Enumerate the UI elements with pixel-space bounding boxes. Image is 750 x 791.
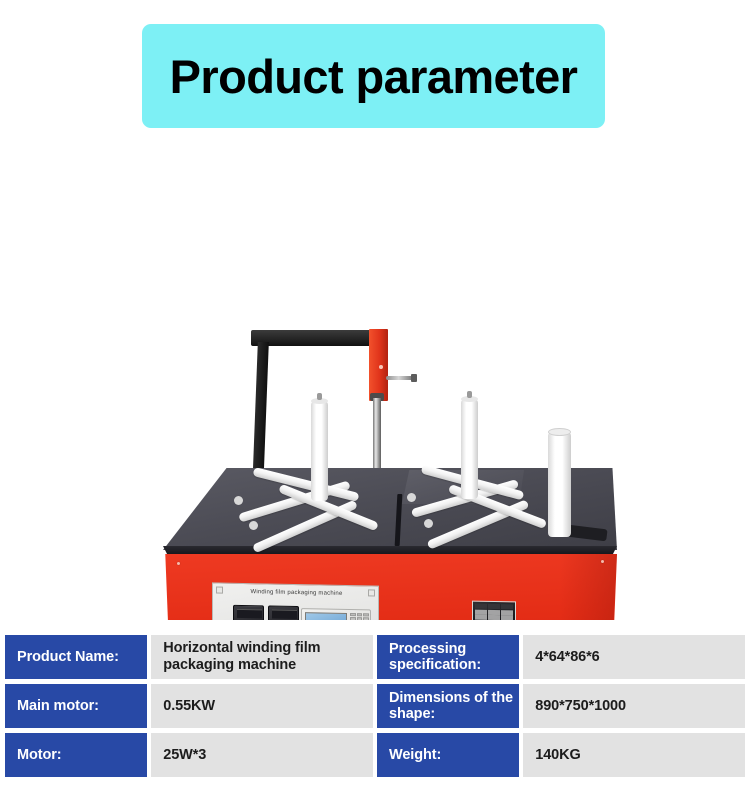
gantry-screw bbox=[379, 365, 383, 369]
machine-illustration: Winding film packaging machine Main moto… bbox=[0, 150, 750, 620]
gantry-top-beam bbox=[251, 330, 385, 346]
spec-label: Processing specification: bbox=[377, 635, 519, 679]
machine-nameplate bbox=[472, 601, 516, 620]
spec-value: Horizontal winding film packaging machin… bbox=[151, 635, 373, 679]
film-roll-top bbox=[548, 428, 571, 436]
spec-value: 890*750*1000 bbox=[523, 684, 745, 728]
control-panel[interactable]: Winding film packaging machine Main moto… bbox=[212, 582, 379, 620]
table-row: Main motor: 0.55KW Dimensions of the sha… bbox=[5, 684, 745, 728]
film-roll-pin bbox=[467, 391, 472, 398]
hmi-lcd-screen bbox=[305, 612, 347, 620]
cabinet-screw bbox=[177, 562, 180, 565]
spec-value: 0.55KW bbox=[151, 684, 373, 728]
roller-arm-cap bbox=[234, 496, 243, 505]
film-roll-pin bbox=[317, 393, 322, 400]
film-roll bbox=[311, 401, 328, 501]
table-row: Motor: 25W*3 Weight: 140KG bbox=[5, 733, 745, 777]
roller-arm-cap bbox=[249, 521, 258, 530]
spec-value: 140KG bbox=[523, 733, 745, 777]
page-title: Product parameter bbox=[170, 53, 578, 100]
vfd-drive-main[interactable] bbox=[233, 605, 264, 620]
spec-label: Dimensions of the shape: bbox=[377, 684, 519, 728]
roller-arm-cap bbox=[424, 519, 433, 528]
film-roll bbox=[548, 432, 571, 537]
hmi-keypad-unit[interactable] bbox=[301, 608, 371, 620]
film-roll bbox=[461, 399, 478, 499]
deck-front-edge bbox=[163, 546, 617, 555]
spec-value: 4*64*86*6 bbox=[523, 635, 745, 679]
panel-title: Winding film packaging machine bbox=[213, 588, 380, 597]
spec-value: 25W*3 bbox=[151, 733, 373, 777]
cabinet-screw bbox=[601, 560, 604, 563]
spec-label: Weight: bbox=[377, 733, 519, 777]
product-photo: Winding film packaging machine Main moto… bbox=[0, 150, 750, 620]
spec-label: Main motor: bbox=[5, 684, 147, 728]
vfd-drive-rotating[interactable] bbox=[268, 605, 299, 620]
table-row: Product Name: Horizontal winding film pa… bbox=[5, 635, 745, 679]
title-banner: Product parameter bbox=[142, 24, 605, 128]
cabinet-shading bbox=[560, 554, 617, 620]
hmi-numeric-keypad[interactable] bbox=[350, 613, 369, 620]
vfd-screen bbox=[237, 609, 262, 618]
gantry-adjust-knob bbox=[386, 376, 414, 380]
specification-table: Product Name: Horizontal winding film pa… bbox=[0, 630, 750, 785]
spec-label: Motor: bbox=[5, 733, 147, 777]
spec-label: Product Name: bbox=[5, 635, 147, 679]
roller-arm-cap bbox=[407, 493, 416, 502]
vfd-screen bbox=[272, 610, 297, 619]
